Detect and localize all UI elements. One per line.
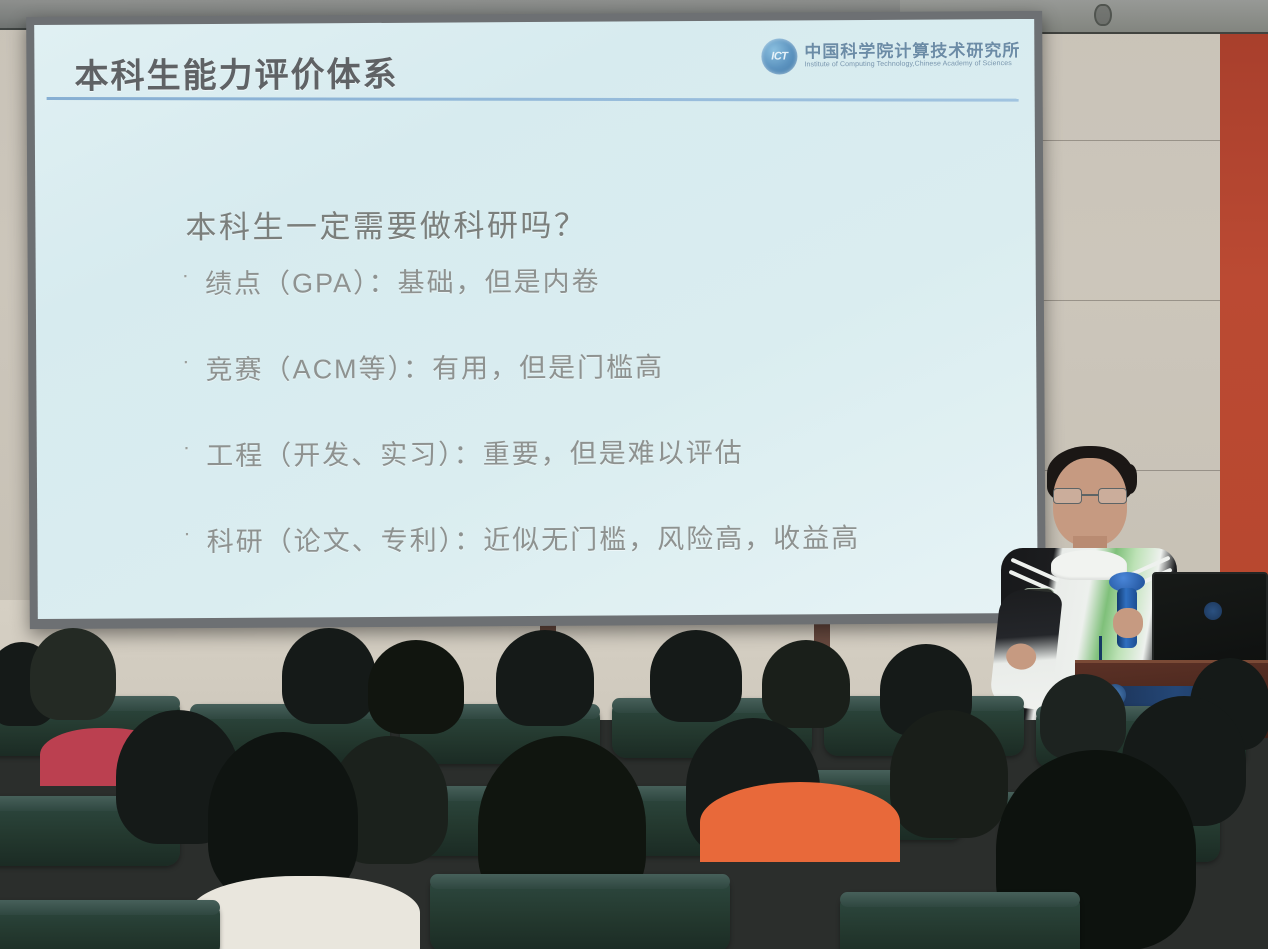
list-item-label: 科研（论文、专利）：近似无门槛，风险高，收益高	[207, 516, 861, 559]
projection-screen: 本科生能力评价体系 中国科学院计算技术研究所 Institute of Comp…	[34, 19, 1038, 619]
bullet-dot-icon: ·	[182, 262, 191, 288]
presentation-slide: 本科生能力评价体系 中国科学院计算技术研究所 Institute of Comp…	[34, 19, 1038, 619]
bullet-dot-icon: ·	[182, 348, 191, 374]
glasses-icon	[1053, 488, 1127, 504]
audience-head	[282, 628, 376, 724]
ict-mark-icon	[761, 38, 797, 74]
list-item: · 科研（论文、专利）：近似无门槛，风险高，收益高	[183, 515, 1023, 559]
audience-head	[1040, 674, 1126, 760]
audience-clothing	[190, 876, 420, 949]
audience	[0, 600, 1268, 949]
audience-head	[496, 630, 594, 726]
ict-logo-english: Institute of Computing Technology,Chines…	[804, 60, 1020, 69]
bullet-dot-icon: ·	[183, 520, 192, 546]
lecture-hall-photo: 本科生能力评价体系 中国科学院计算技术研究所 Institute of Comp…	[0, 0, 1268, 949]
title-underline	[47, 97, 1019, 102]
projection-screen-frame: 本科生能力评价体系 中国科学院计算技术研究所 Institute of Comp…	[26, 11, 1046, 629]
list-item: · 竞赛（ACM等）：有用，但是门槛高	[182, 343, 1022, 387]
slide-title: 本科生能力评价体系	[74, 47, 398, 98]
list-item: · 绩点（GPA）：基础，但是内卷	[182, 257, 1022, 301]
ict-logo: 中国科学院计算技术研究所 Institute of Computing Tech…	[761, 37, 1020, 75]
list-item-label: 工程（开发、实习）：重要，但是难以评估	[206, 431, 744, 473]
auditorium-seat	[840, 892, 1080, 949]
auditorium-seat	[0, 900, 220, 949]
audience-head	[30, 628, 116, 720]
list-item-label: 竞赛（ACM等）：有用，但是门槛高	[205, 345, 664, 387]
auditorium-seat	[430, 874, 730, 949]
audience-head	[650, 630, 742, 722]
list-item-label: 绩点（GPA）：基础，但是内卷	[205, 260, 601, 301]
slide-bullet-list: · 绩点（GPA）：基础，但是内卷 · 竞赛（ACM等）：有用，但是门槛高 · …	[182, 257, 1024, 606]
audience-head	[368, 640, 464, 734]
slide-heading: 本科生一定需要做科研吗？	[185, 200, 587, 247]
red-wall-accent	[1220, 28, 1268, 588]
ceiling-fixture-icon	[1094, 4, 1112, 26]
ict-logo-chinese: 中国科学院计算技术研究所	[804, 42, 1020, 62]
list-item: · 工程（开发、实习）：重要，但是难以评估	[183, 429, 1023, 473]
audience-clothing	[700, 782, 900, 862]
bullet-dot-icon: ·	[183, 434, 192, 460]
audience-head	[762, 640, 850, 728]
audience-head	[890, 710, 1008, 838]
